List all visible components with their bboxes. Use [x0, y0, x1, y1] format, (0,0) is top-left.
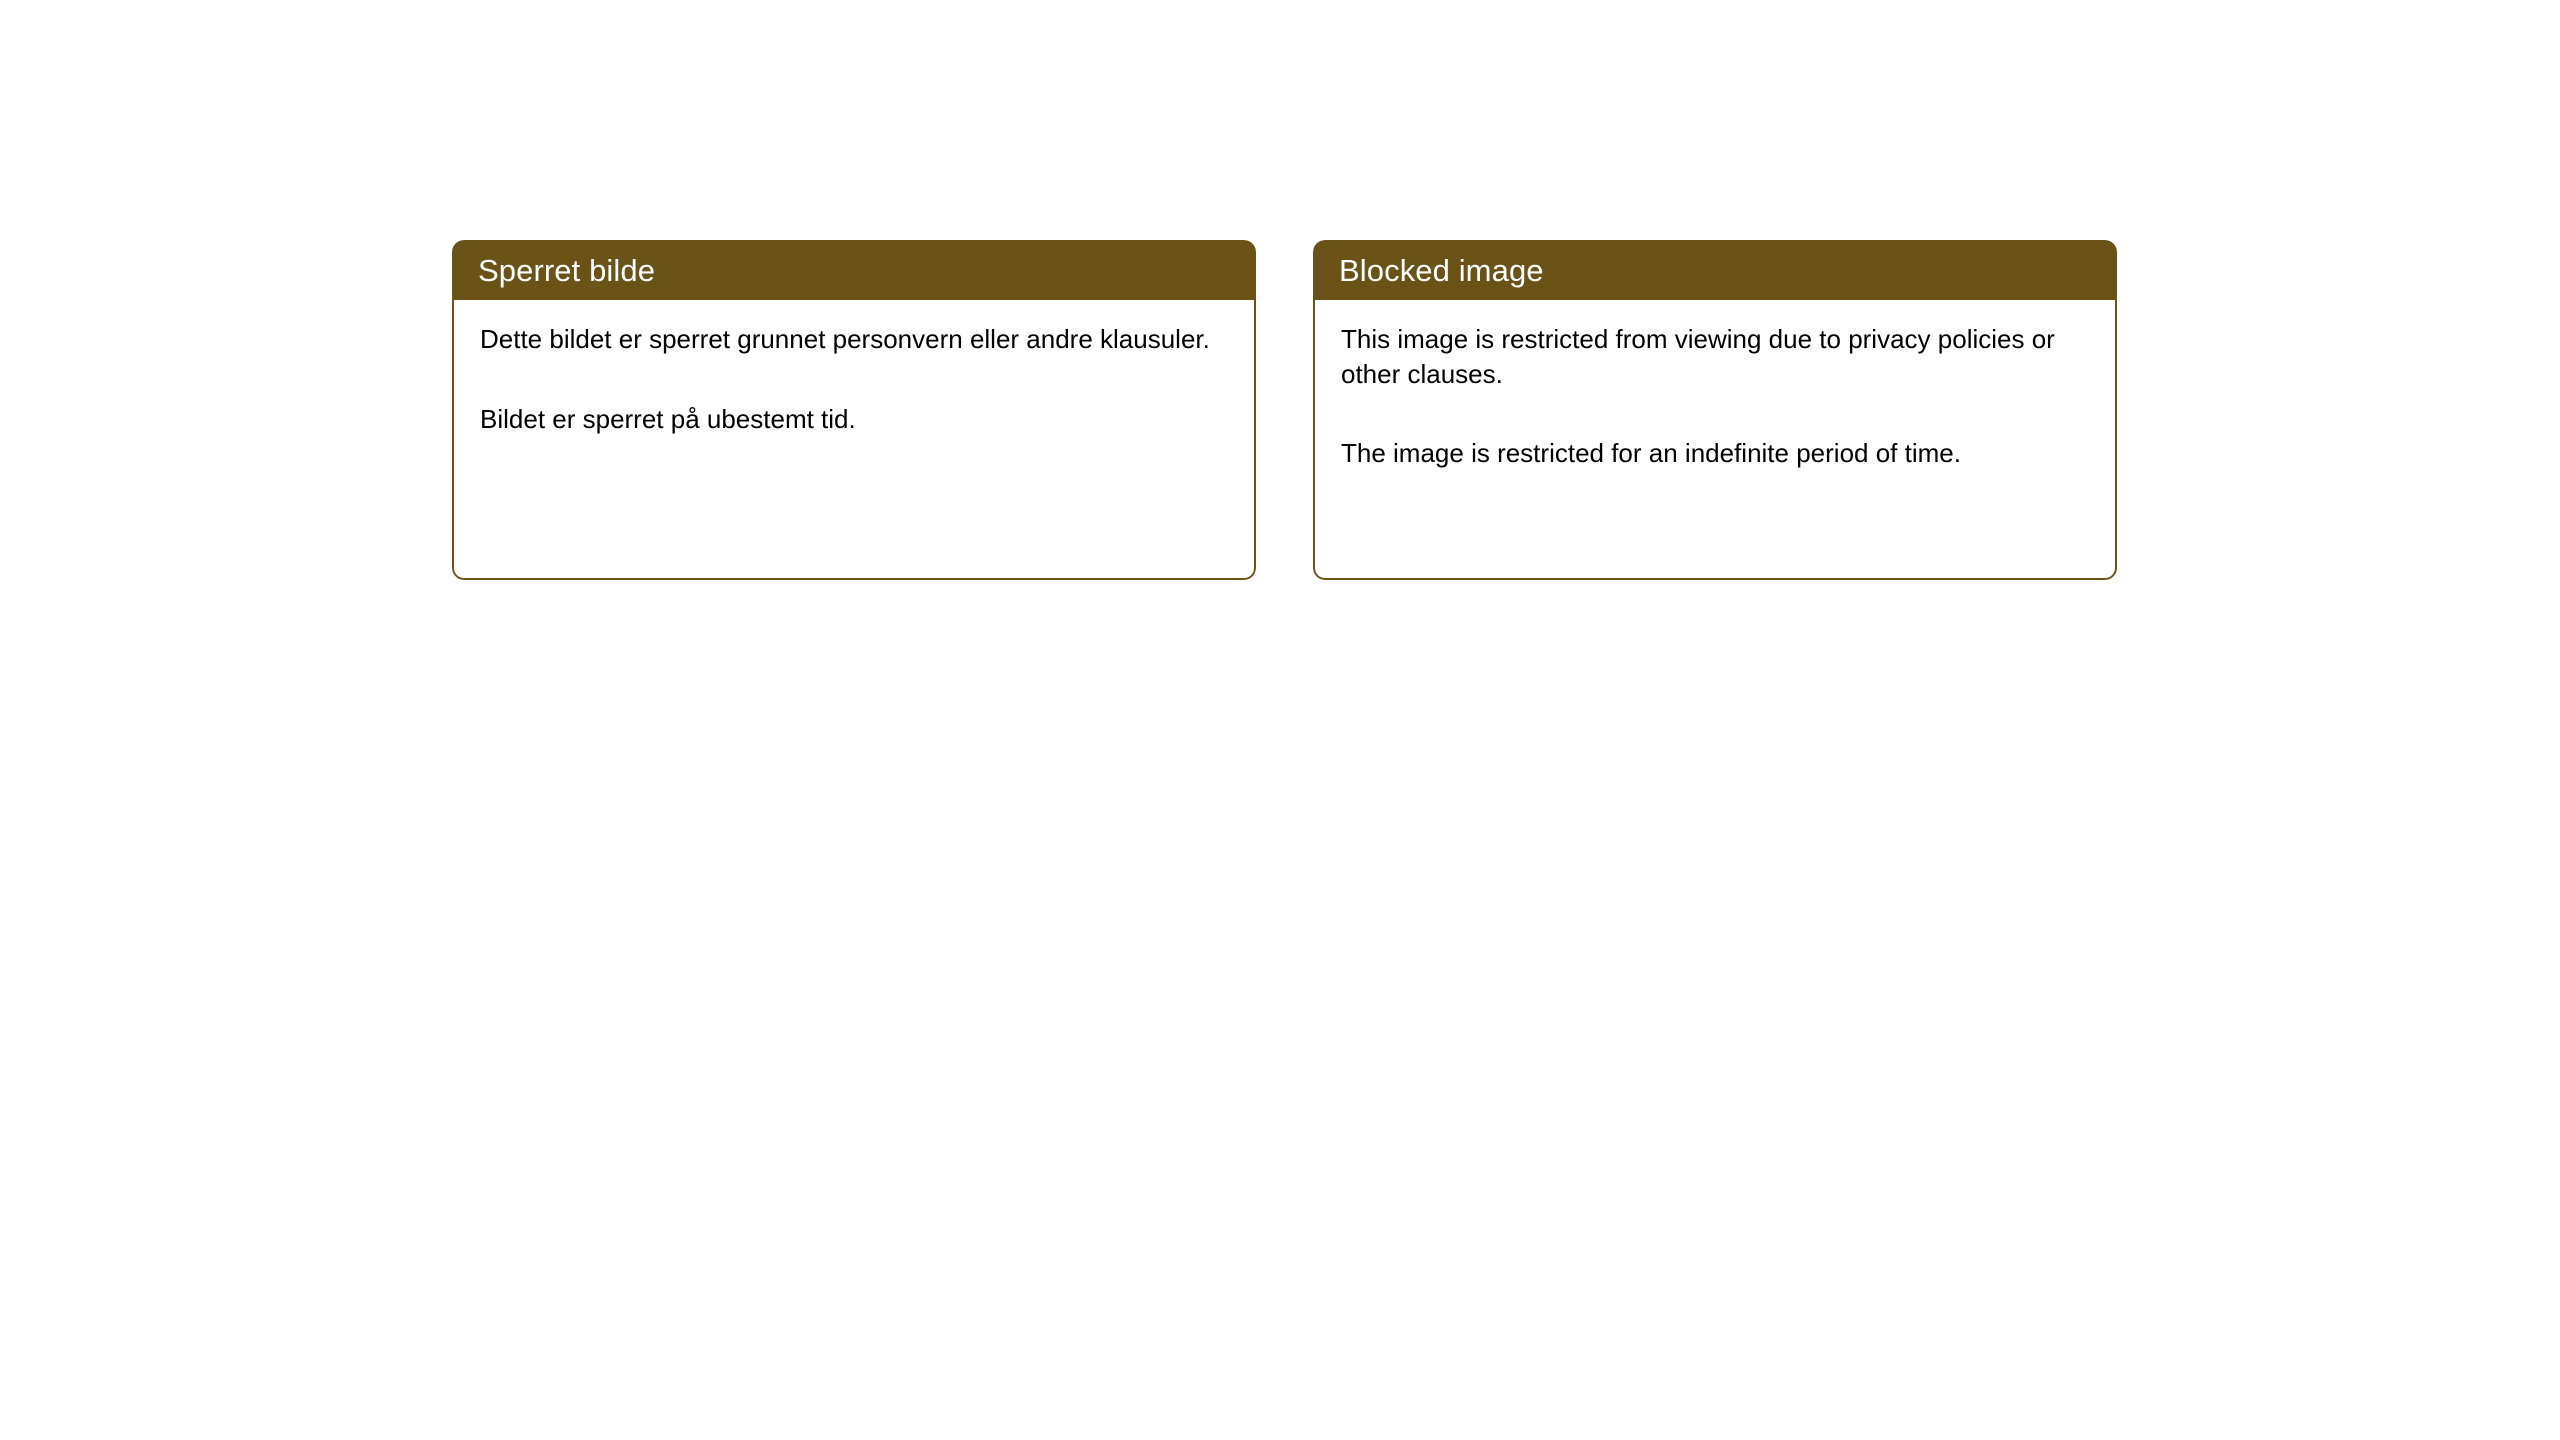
card-title-english: Blocked image	[1339, 255, 1544, 286]
page-canvas: Sperret bilde Dette bildet er sperret gr…	[0, 0, 2560, 1440]
card-header-norwegian: Sperret bilde	[452, 240, 1256, 300]
card-header-english: Blocked image	[1313, 240, 2117, 300]
blocked-image-notice-card-english: Blocked image This image is restricted f…	[1313, 240, 2117, 580]
card-paragraph-reason-norwegian: Dette bildet er sperret grunnet personve…	[480, 322, 1230, 357]
card-paragraph-duration-english: The image is restricted for an indefinit…	[1341, 436, 2091, 471]
card-title-norwegian: Sperret bilde	[478, 255, 655, 286]
card-paragraph-duration-norwegian: Bildet er sperret på ubestemt tid.	[480, 402, 1230, 437]
card-paragraph-reason-english: This image is restricted from viewing du…	[1341, 322, 2091, 391]
card-body-english: This image is restricted from viewing du…	[1313, 300, 2117, 580]
blocked-image-notice-card-norwegian: Sperret bilde Dette bildet er sperret gr…	[452, 240, 1256, 580]
card-body-norwegian: Dette bildet er sperret grunnet personve…	[452, 300, 1256, 580]
